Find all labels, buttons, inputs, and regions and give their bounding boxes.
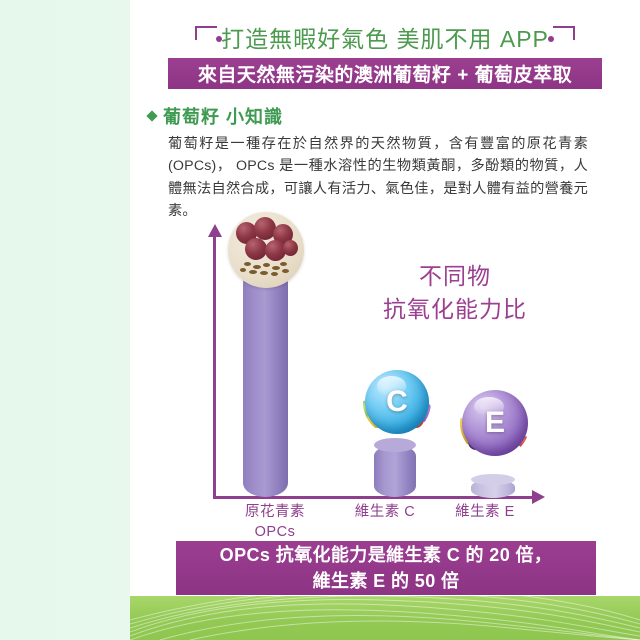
conclusion-line2: 維生素 E 的 50 倍 [313,568,460,594]
chart-title-line1: 不同物 [330,260,580,293]
bar-vitamin-c [374,445,416,497]
x-label-vitamin-e-line1: 維生素 E [439,502,531,522]
headline-container: 打造無暇好氣色 美肌不用 APP [130,24,640,54]
headline-text: 打造無暇好氣色 美肌不用 APP [221,26,549,52]
body-paragraph: 葡萄籽是一種存在於自然界的天然物質，含有豐富的原花青素 (OPCs)， OPCs… [168,133,588,223]
conclusion-box: OPCs 抗氧化能力是維生素 C 的 20 倍， 維生素 E 的 50 倍 [176,541,596,595]
page-title: 打造無暇好氣色 美肌不用 APP [195,24,575,54]
subheading-text: 葡萄籽 小知識 [163,103,283,129]
chart-title-line2: 抗氧化能力比 [330,293,580,326]
bracket-left-icon [195,26,217,40]
grape-seed-photo-icon [228,212,304,288]
y-axis-arrow-icon [208,224,222,237]
x-label-opcs: 原花青素 OPCs [220,502,330,542]
bar-vitamin-e [471,479,515,498]
x-label-opcs-line1: 原花青素 [220,502,330,522]
highlight-banner: 來自天然無污染的澳洲葡萄籽 + 葡萄皮萃取 [168,58,602,89]
grape-cluster-art [228,212,304,288]
bracket-right-icon [553,26,575,40]
section-subheading: 葡萄籽 小知識 [148,103,283,129]
antioxidant-bar-chart: 不同物 抗氧化能力比 [130,228,640,528]
vitamin-e-sphere-icon: E [460,388,530,458]
chart-title: 不同物 抗氧化能力比 [330,260,580,326]
x-label-opcs-line2: OPCs [220,522,330,542]
bar-vitamin-e-top [471,474,515,485]
bottom-decorative-band [130,596,640,640]
vitamin-c-sphere-icon: C [363,368,431,436]
vitamin-c-letter: C [365,370,429,434]
x-label-vitamin-c-line1: 維生素 C [339,502,431,522]
bar-vitamin-c-top [374,438,416,452]
bar-opcs [243,269,288,497]
vitamin-c-sphere: C [365,370,429,434]
banner-text: 來自天然無污染的澳洲葡萄籽 + 葡萄皮萃取 [198,60,572,87]
conclusion-line1: OPCs 抗氧化能力是維生素 C 的 20 倍， [220,542,553,568]
diamond-bullet-icon [146,110,157,121]
y-axis [213,234,216,499]
vitamin-e-letter: E [462,390,528,456]
vitamin-e-sphere: E [462,390,528,456]
wave-pattern-icon [130,596,640,640]
x-label-vitamin-e: 維生素 E [439,502,531,522]
x-label-vitamin-c: 維生素 C [339,502,431,522]
